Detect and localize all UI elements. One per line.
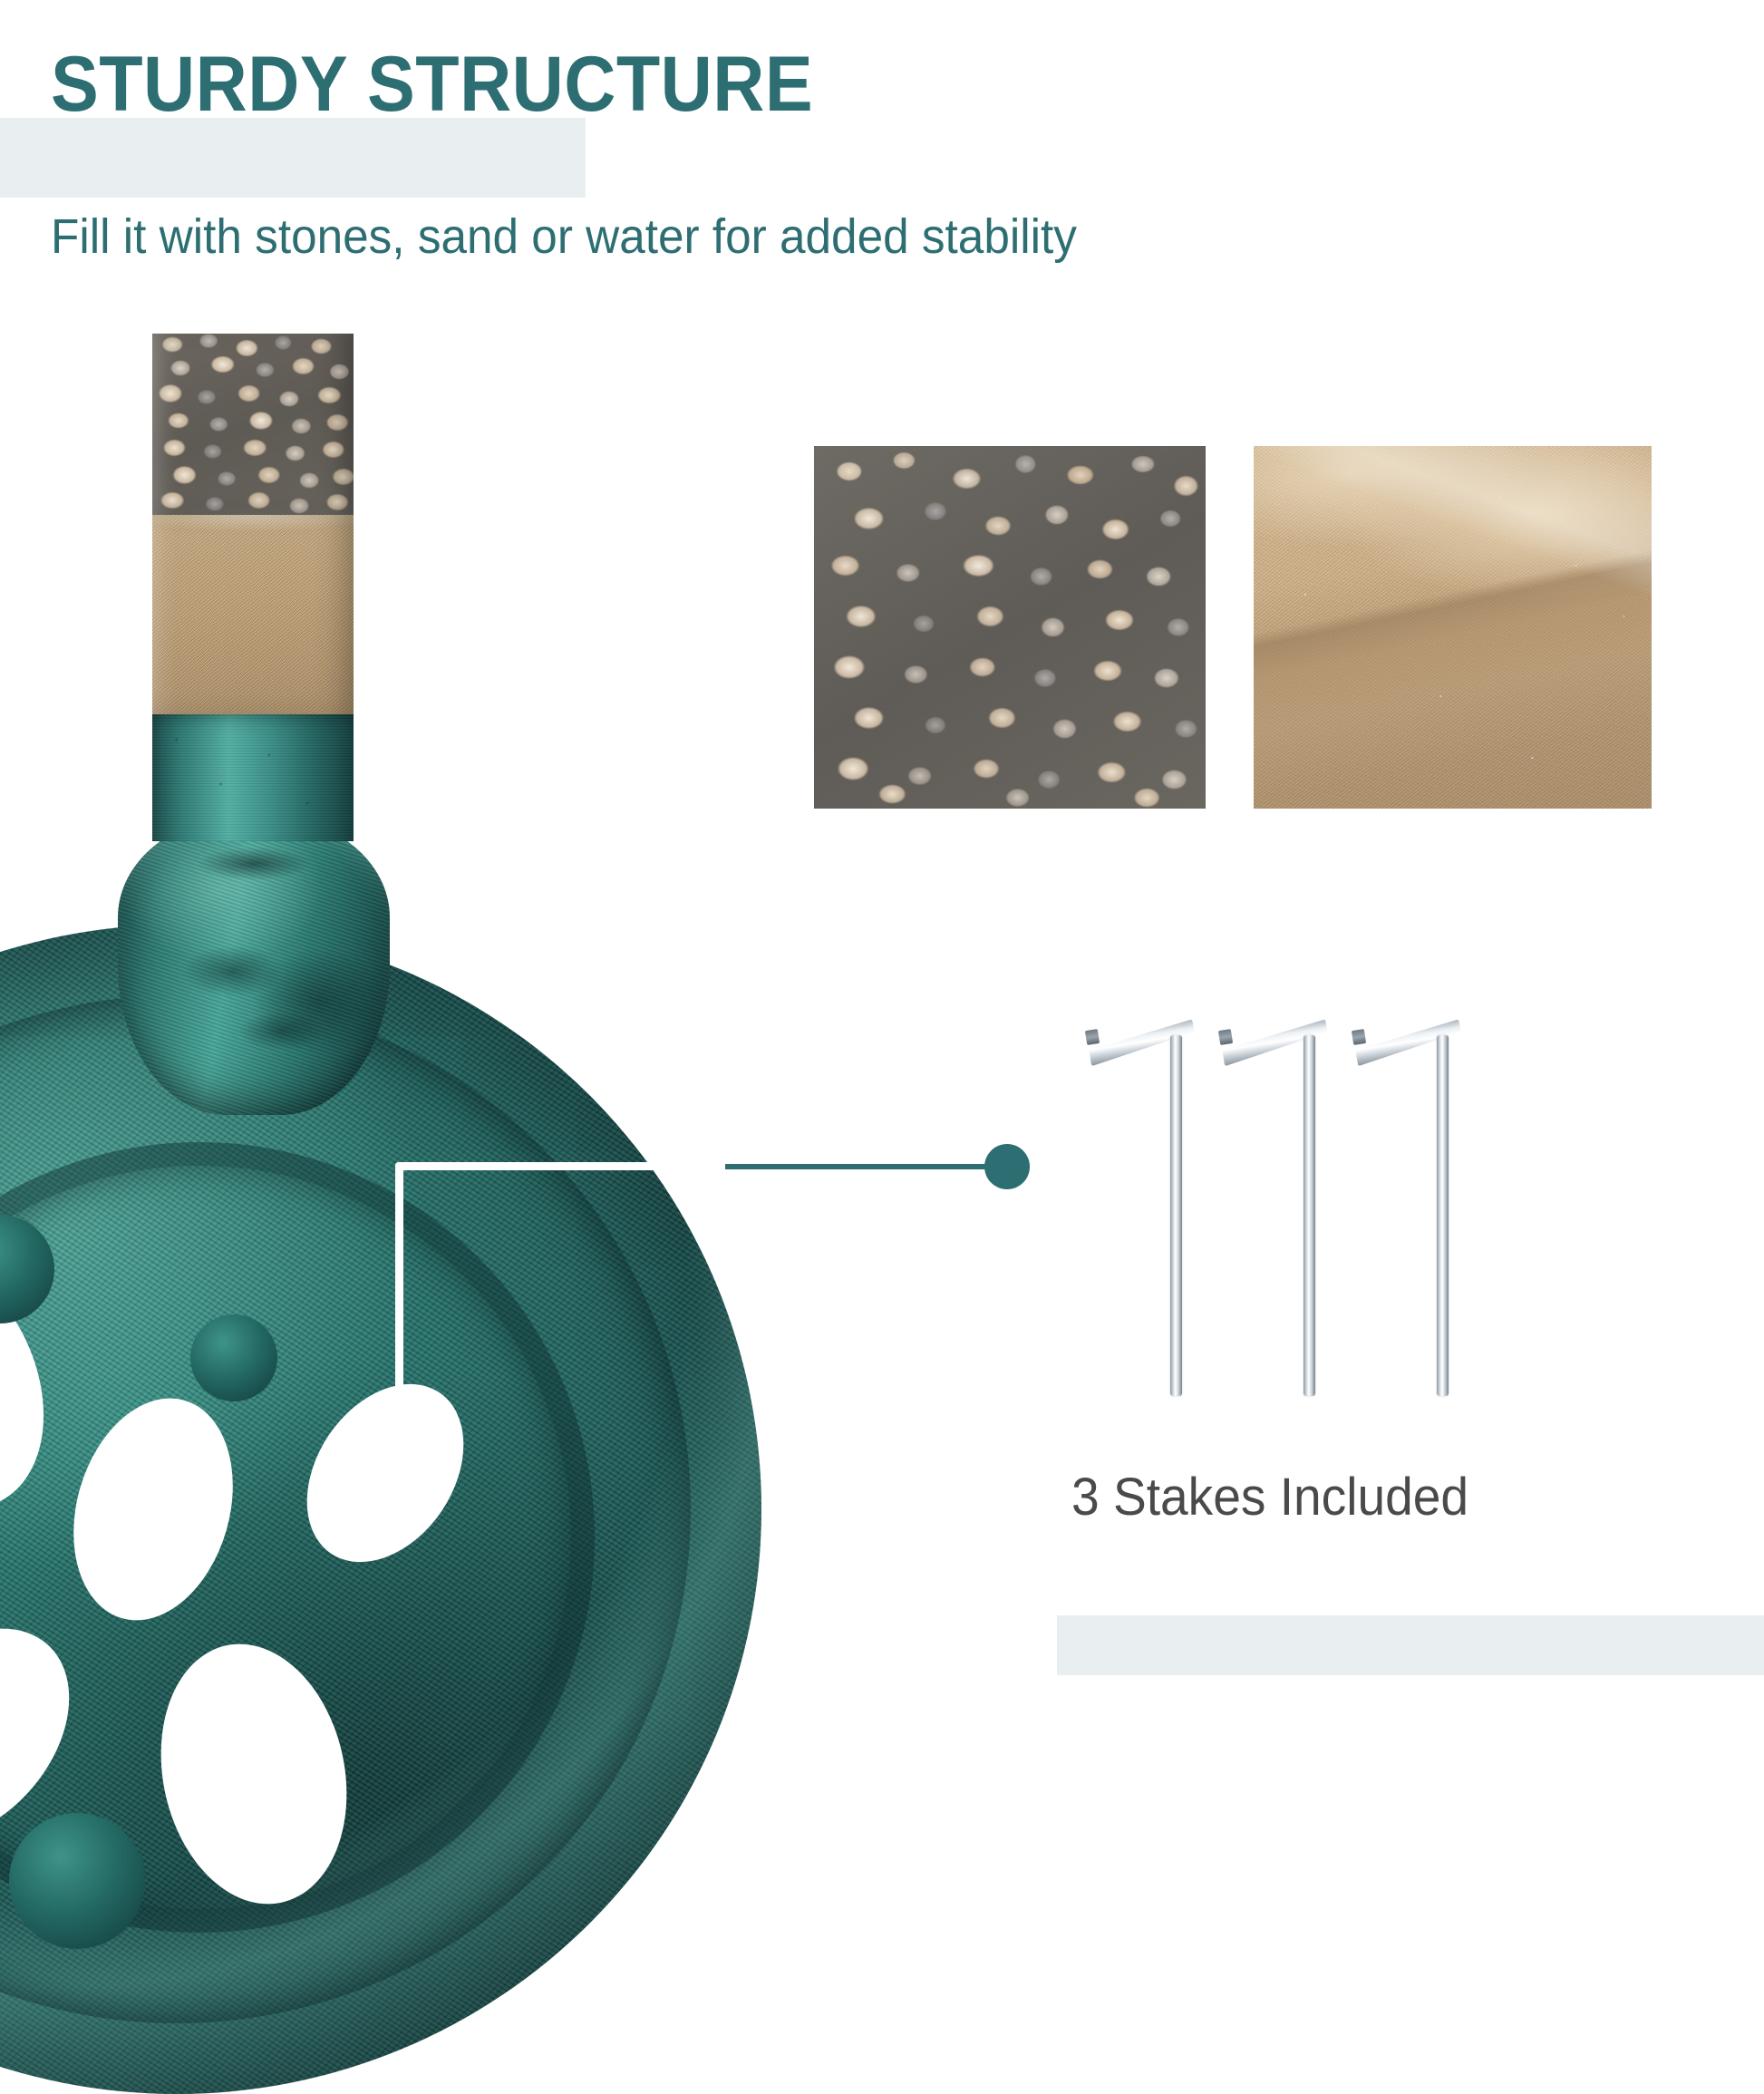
base-ornament-node (9, 1813, 145, 1949)
stake-hook-tip (1352, 1029, 1366, 1045)
page-subtitle: Fill it with stones, sand or water for a… (51, 210, 1077, 264)
callout-horizontal-line-teal (725, 1164, 997, 1169)
stake-shaft (1304, 1035, 1315, 1396)
callout-horizontal-line-white (395, 1162, 727, 1170)
umbrella-base-product-image (0, 326, 852, 1764)
pole-fill-sand-layer (152, 515, 354, 714)
stake-icon (1217, 1015, 1332, 1396)
title-accent-band (0, 118, 586, 198)
sand-swatch-image (1254, 446, 1652, 809)
umbrella-pole-cutaway (152, 334, 354, 841)
page-title: STURDY STRUCTURE (51, 45, 813, 123)
base-ornament-node (190, 1314, 277, 1401)
stakes-caption: 3 Stakes Included (1071, 1467, 1468, 1527)
stake-icon (1084, 1015, 1198, 1396)
stones-swatch-image (814, 446, 1206, 809)
callout-endpoint-dot (984, 1144, 1030, 1189)
stake-icon (1351, 1015, 1465, 1396)
stakes-group-image (1084, 1015, 1465, 1396)
stake-hook-tip (1218, 1029, 1233, 1045)
pole-fill-stones-layer (152, 334, 354, 515)
callout-vertical-line (395, 1162, 403, 1421)
stake-shaft (1437, 1035, 1449, 1396)
pole-metal-section (152, 714, 354, 841)
bottom-accent-band (1057, 1615, 1764, 1675)
base-collar (118, 816, 390, 1115)
stake-hook-tip (1085, 1029, 1100, 1045)
stake-shaft (1170, 1035, 1182, 1396)
